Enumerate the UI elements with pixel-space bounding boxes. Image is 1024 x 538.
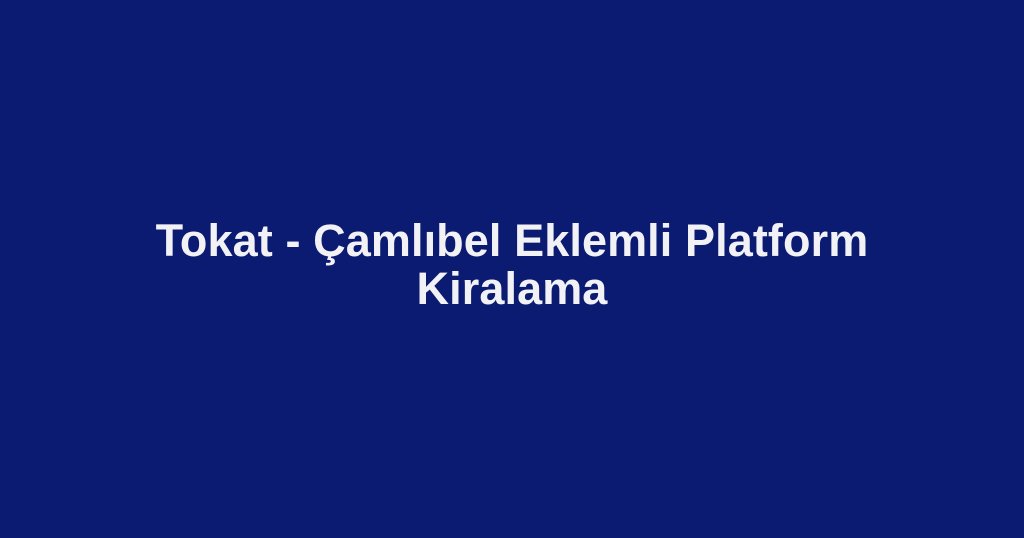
- page-title: Tokat - Çamlıbel Eklemli Platform Kirala…: [132, 217, 892, 313]
- banner-content: Tokat - Çamlıbel Eklemli Platform Kirala…: [0, 217, 1024, 313]
- page-banner: Tokat - Çamlıbel Eklemli Platform Kirala…: [0, 0, 1024, 538]
